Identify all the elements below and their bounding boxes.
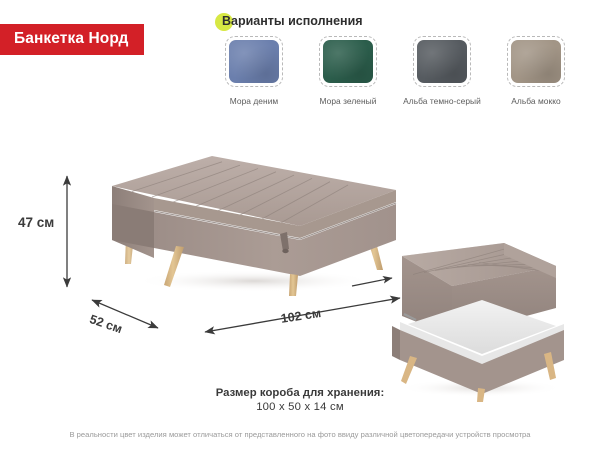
storage-size-block: Размер короба для хранения: 100 x 50 x 1… <box>0 386 600 415</box>
swatch-frame <box>319 36 377 87</box>
color-swatch-denim[interactable]: Мора деним <box>224 36 284 106</box>
dimension-label-width: 102 см <box>280 307 322 325</box>
swatch-label: Альба мокко <box>511 96 560 106</box>
swatch-frame <box>413 36 471 87</box>
dimension-label-height: 47 см <box>18 216 54 230</box>
swatch-label: Альба темно-серый <box>403 96 481 106</box>
color-variant-list: Мора деним Мора зеленый Альба темно-серы… <box>224 36 596 106</box>
color-swatch-mocha[interactable]: Альба мокко <box>506 36 566 106</box>
swatch-label: Мора деним <box>230 96 278 106</box>
swatch-chip-green <box>323 40 373 83</box>
storage-size-value: 100 x 50 x 14 см <box>0 400 600 415</box>
storage-size-title: Размер короба для хранения: <box>0 386 600 400</box>
swatch-chip-dark-gray <box>417 40 467 83</box>
product-photo-bench-closed <box>104 148 404 296</box>
color-swatch-dark-gray[interactable]: Альба темно-серый <box>412 36 472 106</box>
color-disclaimer-note: В реальности цвет изделия может отличать… <box>0 430 600 439</box>
dimension-label-depth: 52 см <box>88 313 124 336</box>
swatch-label: Мора зеленый <box>320 96 377 106</box>
color-swatch-green[interactable]: Мора зеленый <box>318 36 378 106</box>
variants-heading: Варианты исполнения <box>222 15 363 28</box>
swatch-frame <box>225 36 283 87</box>
product-title-banner: Банкетка Норд <box>0 24 144 55</box>
swatch-frame <box>507 36 565 87</box>
swatch-chip-mocha <box>511 40 561 83</box>
open-base-side <box>392 326 400 360</box>
product-photo-bench-open <box>386 238 572 402</box>
swatch-chip-denim <box>229 40 279 83</box>
